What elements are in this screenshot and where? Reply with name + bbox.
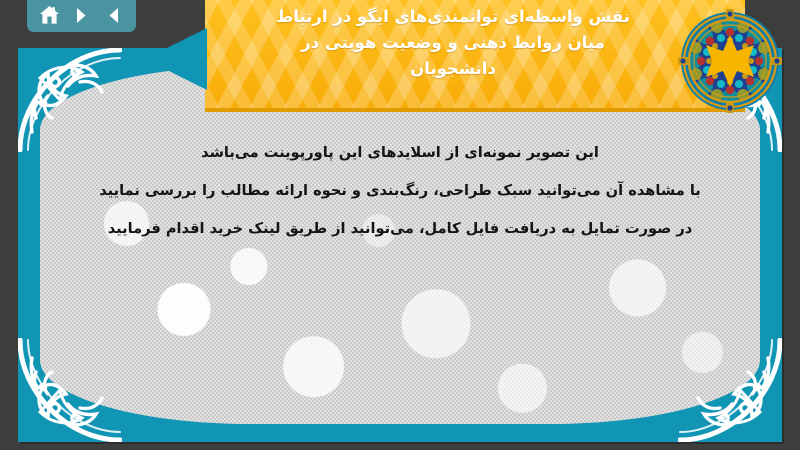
body-line-2: با مشاهده آن می‌توانید سبک طراحی، رنگ‌بن… (62, 172, 738, 210)
page-title: نقش واسطه‌ای توانمندی‌های ایگو در ارتباط… (276, 4, 630, 82)
islamic-medallion-ornament (676, 7, 784, 115)
slide-title-banner: نقش واسطه‌ای توانمندی‌های ایگو در ارتباط… (205, 0, 745, 112)
triangle-right-icon (72, 6, 91, 25)
presentation-viewer: این تصویر نمونه‌ای از اسلایدهای این پاور… (0, 0, 800, 450)
triangle-left-icon (104, 6, 123, 25)
body-line-1: این تصویر نمونه‌ای از اسلایدهای این پاور… (62, 134, 738, 172)
next-slide-button[interactable] (68, 2, 96, 28)
slide-body-text: این تصویر نمونه‌ای از اسلایدهای این پاور… (18, 134, 782, 248)
home-icon (39, 5, 60, 25)
previous-slide-button[interactable] (99, 2, 127, 28)
slide-navigation-toolbar (27, 0, 136, 32)
home-button[interactable] (36, 2, 64, 28)
banner-tail-notch (145, 28, 207, 90)
body-line-3: در صورت تمایل به دریافت فایل کامل، می‌تو… (62, 210, 738, 248)
